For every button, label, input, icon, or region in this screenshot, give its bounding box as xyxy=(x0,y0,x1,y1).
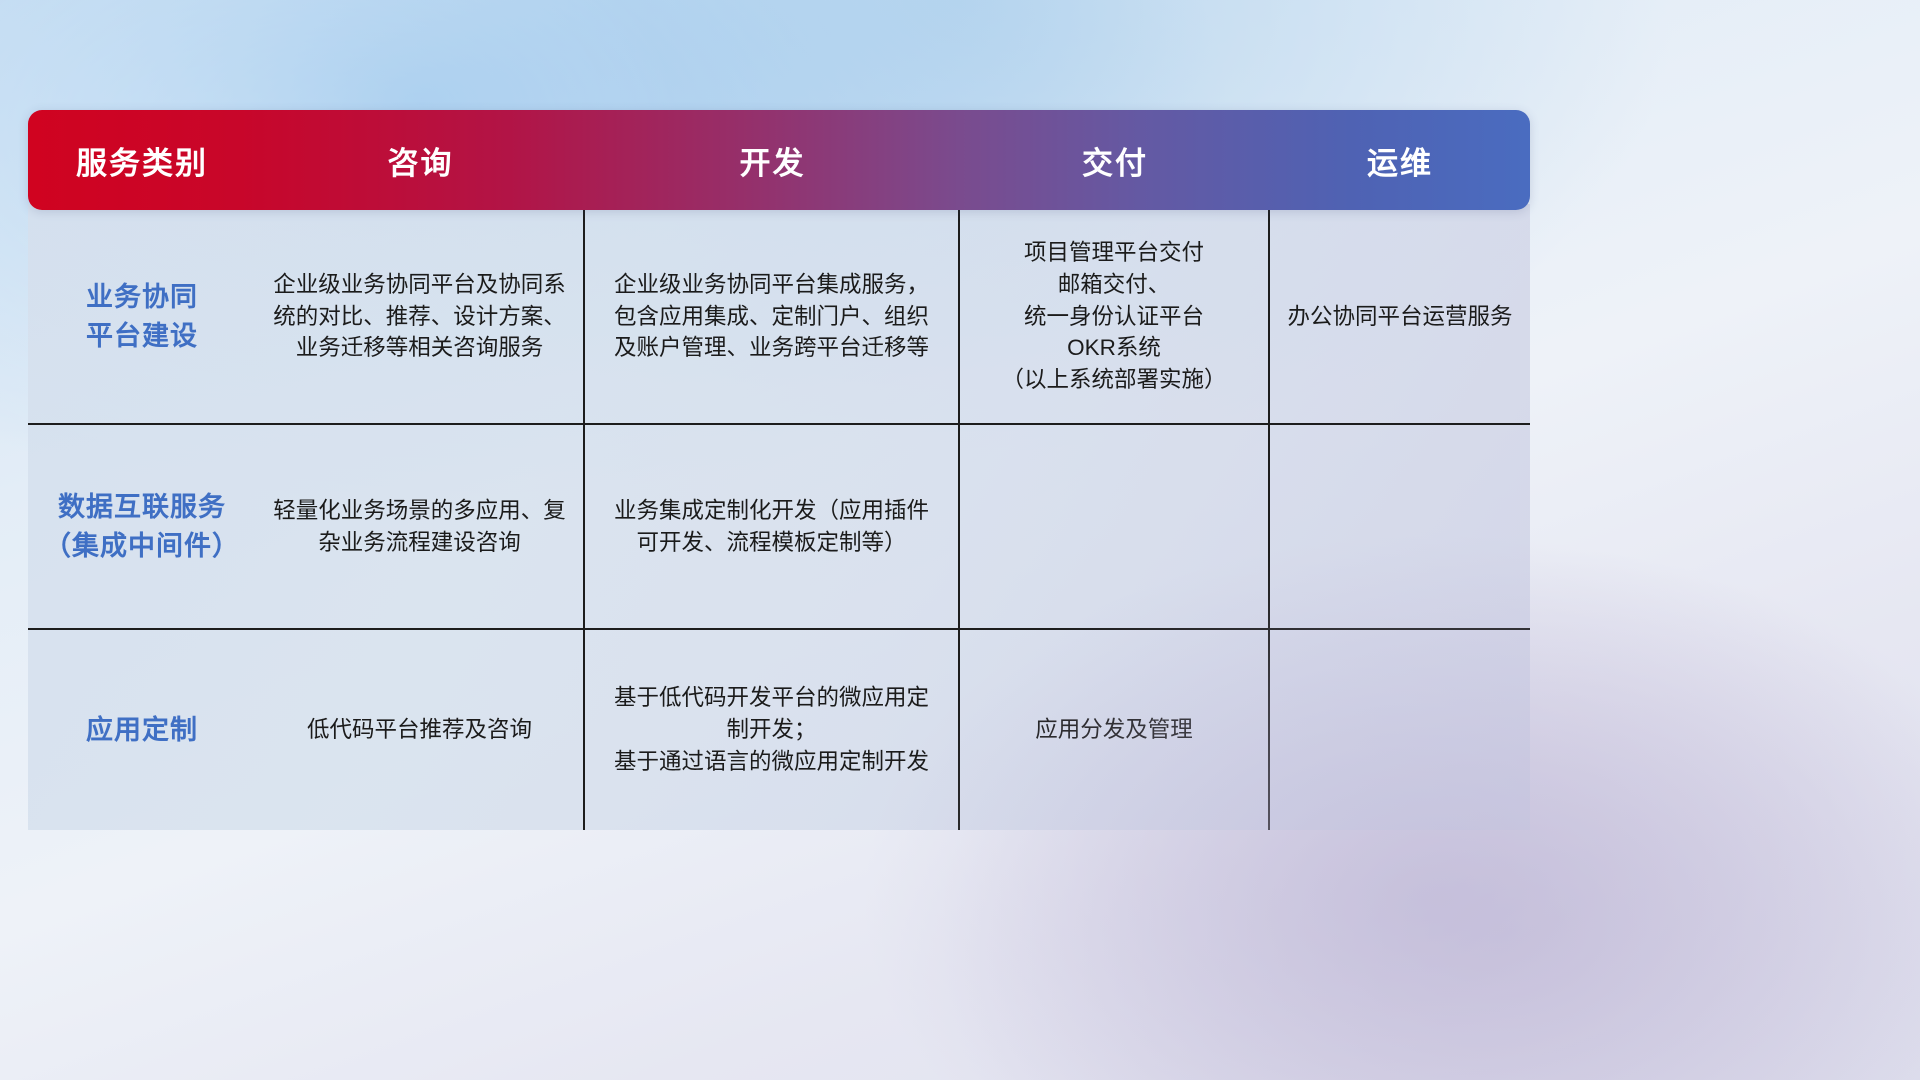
cell-delivery: 项目管理平台交付 邮箱交付、 统一身份认证平台 OKR系统 （以上系统部署实施） xyxy=(960,210,1270,423)
cell-consulting: 轻量化业务场景的多应用、复 杂业务流程建设咨询 xyxy=(256,425,585,628)
cell-development: 企业级业务协同平台集成服务， 包含应用集成、定制门户、组织 及账户管理、业务跨平… xyxy=(585,210,960,423)
row-category-label: 应用定制 xyxy=(28,630,256,830)
cell-delivery xyxy=(960,425,1270,628)
table-header-cell-operations: 运维 xyxy=(1270,110,1530,210)
cell-development: 业务集成定制化开发（应用插件 可开发、流程模板定制等） xyxy=(585,425,960,628)
cell-operations xyxy=(1270,630,1530,830)
table-header-cell-delivery: 交付 xyxy=(960,110,1270,210)
cell-development: 基于低代码开发平台的微应用定 制开发； 基于通过语言的微应用定制开发 xyxy=(585,630,960,830)
table-header-cell-development: 开发 xyxy=(585,110,960,210)
table-header-row: 服务类别 咨询 开发 交付 运维 xyxy=(28,110,1530,210)
cell-consulting: 企业级业务协同平台及协同系 统的对比、推荐、设计方案、 业务迁移等相关咨询服务 xyxy=(256,210,585,423)
cell-operations xyxy=(1270,425,1530,628)
cell-delivery: 应用分发及管理 xyxy=(960,630,1270,830)
slide-canvas: 服务类别 咨询 开发 交付 运维 业务协同 平台建设 企业级业务协同平台及协同系… xyxy=(0,0,1920,1080)
service-matrix-table: 服务类别 咨询 开发 交付 运维 业务协同 平台建设 企业级业务协同平台及协同系… xyxy=(28,110,1530,830)
table-header-cell-consulting: 咨询 xyxy=(256,110,585,210)
table-body: 业务协同 平台建设 企业级业务协同平台及协同系 统的对比、推荐、设计方案、 业务… xyxy=(28,204,1530,830)
table-row: 业务协同 平台建设 企业级业务协同平台及协同系 统的对比、推荐、设计方案、 业务… xyxy=(28,210,1530,425)
table-row: 数据互联服务 （集成中间件） 轻量化业务场景的多应用、复 杂业务流程建设咨询 业… xyxy=(28,425,1530,630)
row-category-label: 业务协同 平台建设 xyxy=(28,210,256,423)
cell-consulting: 低代码平台推荐及咨询 xyxy=(256,630,585,830)
row-category-label: 数据互联服务 （集成中间件） xyxy=(28,425,256,628)
cell-operations: 办公协同平台运营服务 xyxy=(1270,210,1530,423)
table-row: 应用定制 低代码平台推荐及咨询 基于低代码开发平台的微应用定 制开发； 基于通过… xyxy=(28,630,1530,830)
table-header-cell-service-category: 服务类别 xyxy=(28,110,256,210)
